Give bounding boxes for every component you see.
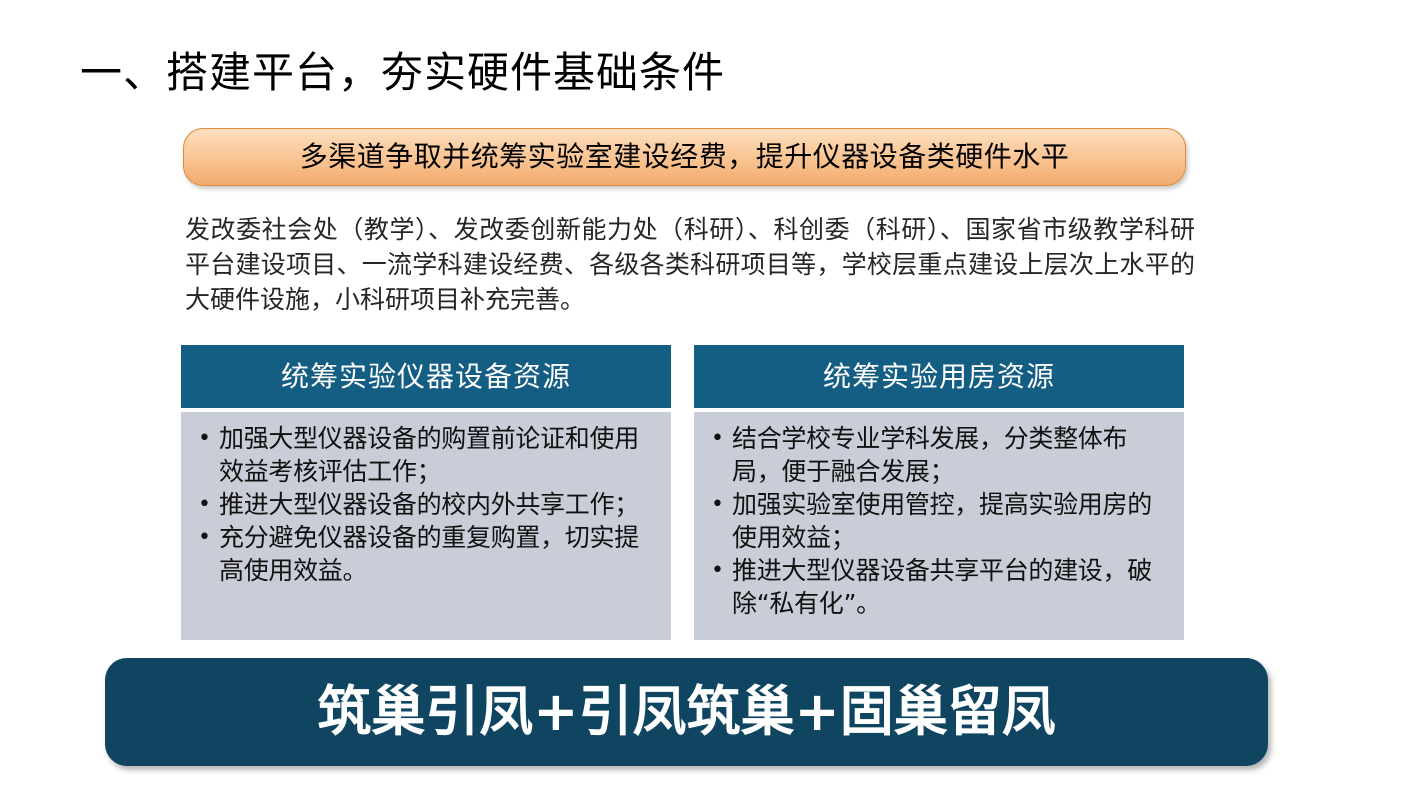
slide-canvas: 一、搭建平台，夯实硬件基础条件 多渠道争取并统筹实验室建设经费，提升仪器设备类硬… xyxy=(0,0,1410,792)
card-room-resources: 统筹实验用房资源 结合学校专业学科发展，分类整体布局，便于融合发展； 加强实验室… xyxy=(694,345,1184,640)
highlight-banner: 多渠道争取并统筹实验室建设经费，提升仪器设备类硬件水平 xyxy=(183,128,1186,186)
list-item: 推进大型仪器设备共享平台的建设，破除“私有化”。 xyxy=(704,554,1174,620)
list-item: 推进大型仪器设备的校内外共享工作； xyxy=(191,488,661,521)
highlight-banner-text: 多渠道争取并统筹实验室建设经费，提升仪器设备类硬件水平 xyxy=(300,142,1070,172)
list-item: 加强大型仪器设备的购置前论证和使用效益考核评估工作； xyxy=(191,422,661,488)
card-header-room: 统筹实验用房资源 xyxy=(694,345,1184,408)
card-title-equipment: 统筹实验仪器设备资源 xyxy=(281,362,571,392)
list-item: 充分避免仪器设备的重复购置，切实提高使用效益。 xyxy=(191,521,661,587)
slogan-banner-text: 筑巢引凤+引凤筑巢+固巢留凤 xyxy=(317,682,1056,742)
slogan-banner: 筑巢引凤+引凤筑巢+固巢留凤 xyxy=(105,658,1268,766)
card-body-room: 结合学校专业学科发展，分类整体布局，便于融合发展； 加强实验室使用管控，提高实验… xyxy=(694,412,1184,640)
card-body-equipment: 加强大型仪器设备的购置前论证和使用效益考核评估工作； 推进大型仪器设备的校内外共… xyxy=(181,412,671,640)
list-item: 加强实验室使用管控，提高实验用房的使用效益； xyxy=(704,488,1174,554)
page-title: 一、搭建平台，夯实硬件基础条件 xyxy=(80,46,1180,100)
bullet-list-room: 结合学校专业学科发展，分类整体布局，便于融合发展； 加强实验室使用管控，提高实验… xyxy=(704,422,1174,620)
bullet-list-equipment: 加强大型仪器设备的购置前论证和使用效益考核评估工作； 推进大型仪器设备的校内外共… xyxy=(191,422,661,587)
body-paragraph: 发改委社会处（教学）、发改委创新能力处（科研）、科创委（科研）、国家省市级教学科… xyxy=(185,212,1195,317)
card-equipment-resources: 统筹实验仪器设备资源 加强大型仪器设备的购置前论证和使用效益考核评估工作； 推进… xyxy=(181,345,671,640)
card-header-equipment: 统筹实验仪器设备资源 xyxy=(181,345,671,408)
card-title-room: 统筹实验用房资源 xyxy=(823,362,1055,392)
list-item: 结合学校专业学科发展，分类整体布局，便于融合发展； xyxy=(704,422,1174,488)
